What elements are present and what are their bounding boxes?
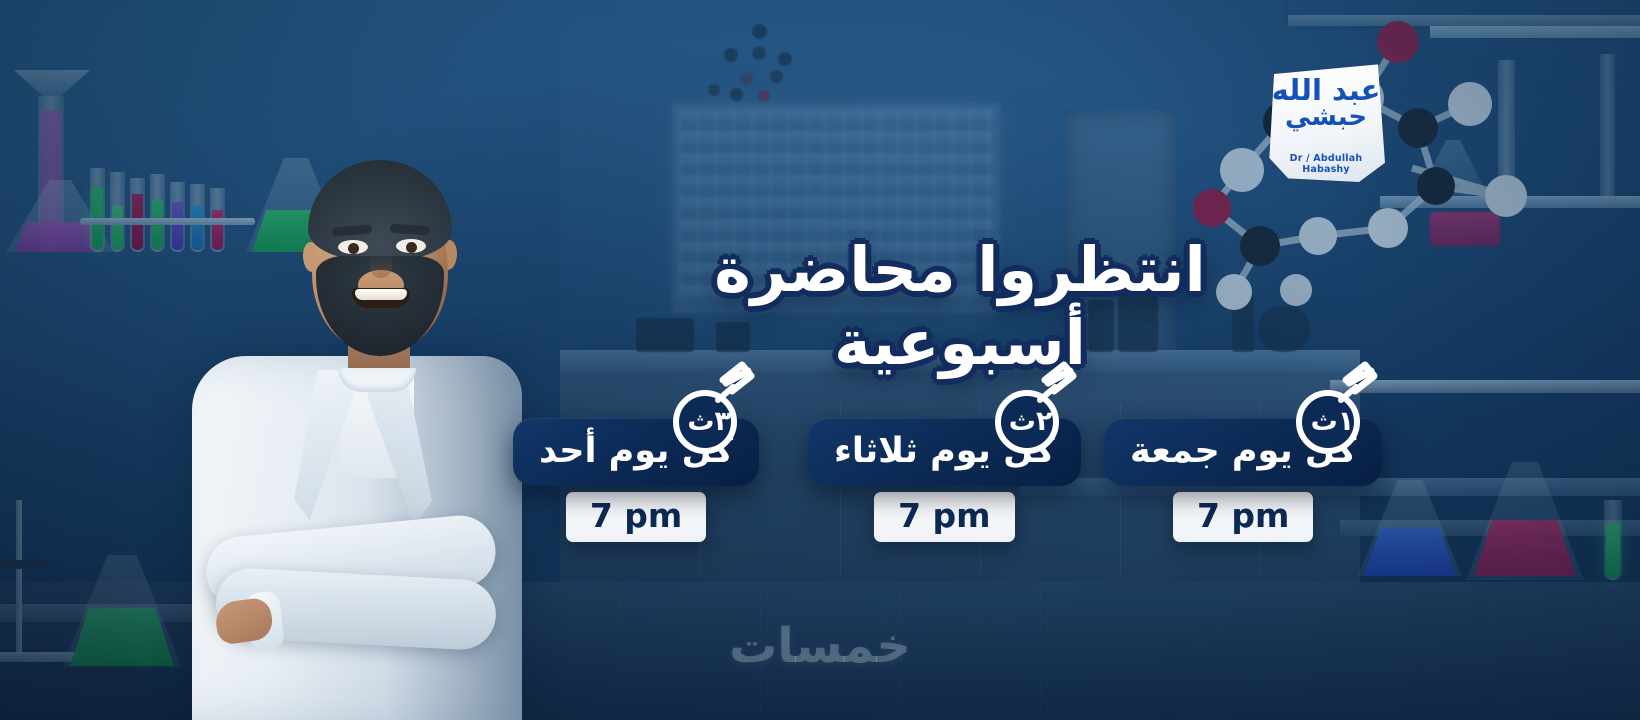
logo-arabic-name: عبد الله حبشي xyxy=(1267,76,1385,130)
time-badge[interactable]: 7 pm xyxy=(566,492,706,542)
logo-arabic-line-2: حبشي xyxy=(1267,104,1385,131)
day-pill[interactable]: كل يوم أحد ٣ث xyxy=(513,418,759,486)
schedule-group: كل يوم أحد ٣ث 7 pm كل يو xyxy=(0,0,1640,720)
grade-label: ٣ث xyxy=(687,406,731,437)
flask-icon: ١ث xyxy=(1286,360,1378,456)
flask-icon: ٣ث xyxy=(663,360,755,456)
time-badge[interactable]: 7 pm xyxy=(874,492,1014,542)
marketplace-watermark: خمسات xyxy=(729,618,911,674)
day-pill[interactable]: كل يوم جمعة ١ث xyxy=(1104,418,1382,486)
schedule-card-grade-3[interactable]: كل يوم أحد ٣ث 7 pm xyxy=(513,418,759,542)
schedule-card-grade-1[interactable]: كل يوم جمعة ١ث 7 pm xyxy=(1104,418,1382,542)
brand-logo[interactable]: عبد الله حبشي Dr / Abdullah Habashy xyxy=(1267,62,1385,182)
logo-english-name: Dr / Abdullah Habashy xyxy=(1267,153,1385,175)
lecture-announcement-banner: انتظروا محاضرة أسبوعية كل يوم أحد ٣ث xyxy=(0,0,1640,720)
grade-label: ٢ث xyxy=(1009,406,1053,437)
schedule-card-grade-2[interactable]: كل يوم ثلاثاء ٢ث 7 pm xyxy=(808,418,1081,542)
grade-label: ١ث xyxy=(1311,406,1355,437)
day-pill[interactable]: كل يوم ثلاثاء ٢ث xyxy=(808,418,1081,486)
time-badge[interactable]: 7 pm xyxy=(1173,492,1313,542)
flask-icon: ٢ث xyxy=(985,360,1077,456)
